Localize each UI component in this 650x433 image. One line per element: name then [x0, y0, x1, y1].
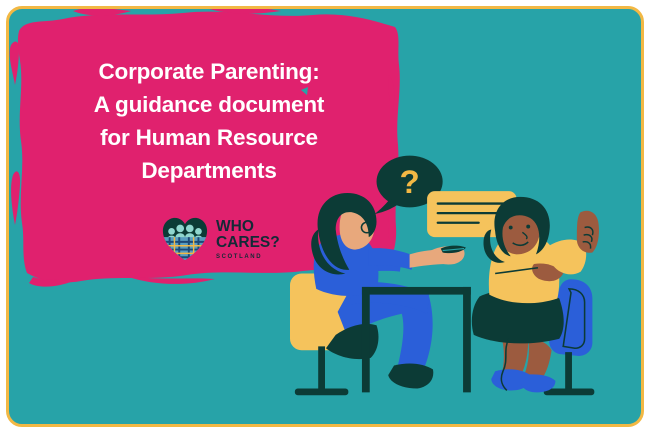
cover-page: Corporate Parenting: A guidance document…: [0, 0, 650, 433]
svg-text:?: ?: [399, 163, 419, 200]
page-frame: Corporate Parenting: A guidance document…: [6, 6, 644, 427]
illustration-two-people-in-conversation: ?: [9, 9, 641, 424]
